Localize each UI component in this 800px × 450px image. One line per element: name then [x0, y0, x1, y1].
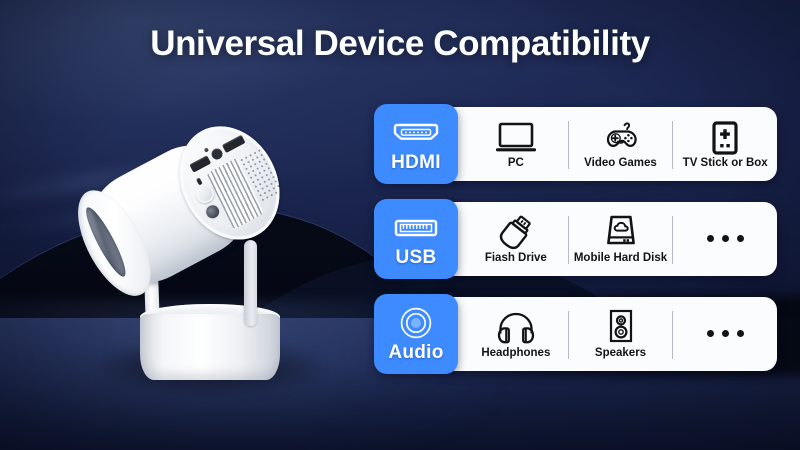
connector-badge-label: Audio: [388, 343, 443, 362]
compatibility-rows: HDMI PC: [374, 104, 800, 389]
device-item-label: Headphones: [481, 348, 550, 360]
audio-jack-icon: [398, 306, 434, 340]
compatibility-row: HDMI PC: [374, 104, 800, 184]
device-item-pc[interactable]: PC: [464, 107, 568, 181]
ellipsis-dots-icon: [707, 330, 744, 337]
device-item-mobile-hard-disk[interactable]: Mobile Hard Disk: [569, 202, 673, 276]
device-card-audio: Headphones Speakers: [442, 297, 777, 371]
usb-flash-drive-icon: [496, 214, 536, 250]
page-title: Universal Device Compatibility: [0, 24, 800, 64]
device-item-label: TV Stick or Box: [683, 158, 768, 170]
device-item-label: Video Games: [584, 158, 657, 170]
external-hard-disk-icon: [602, 214, 640, 250]
hdmi-port-icon: [393, 116, 439, 150]
device-card-hdmi: PC: [442, 107, 777, 181]
compatibility-row: USB: [374, 199, 800, 279]
usb-port-icon: [393, 211, 439, 245]
connector-badge-label: HDMI: [391, 153, 441, 172]
projector-illustration: [96, 128, 326, 393]
laptop-icon: [493, 119, 539, 155]
device-item-flash-drive[interactable]: Fiash Drive: [464, 202, 568, 276]
speaker-icon: [606, 309, 636, 345]
device-item-video-games[interactable]: Video Games: [569, 107, 673, 181]
device-item-label: Speakers: [595, 348, 646, 360]
device-item-label: PC: [508, 158, 524, 170]
gamepad-icon: [598, 119, 644, 155]
connector-badge-usb[interactable]: USB: [374, 199, 458, 279]
connector-badge-hdmi[interactable]: HDMI: [374, 104, 458, 184]
device-item-more-audio[interactable]: [673, 297, 777, 371]
compatibility-row: Audio Headphones: [374, 294, 800, 374]
connector-badge-audio[interactable]: Audio: [374, 294, 458, 374]
device-item-tv-stick-or-box[interactable]: TV Stick or Box: [673, 107, 777, 181]
device-item-label: Mobile Hard Disk: [574, 253, 667, 265]
ellipsis-dots-icon: [707, 235, 744, 242]
device-item-more-usb[interactable]: [673, 202, 777, 276]
connector-badge-label: USB: [395, 248, 436, 267]
headphones-icon: [492, 309, 540, 345]
device-item-headphones[interactable]: Headphones: [464, 297, 568, 371]
device-card-usb: Fiash Drive Mobile Hard Disk: [442, 202, 777, 276]
device-item-speakers[interactable]: Speakers: [569, 297, 673, 371]
tv-remote-icon: [708, 119, 742, 155]
infographic-canvas: Universal Device Compatibility: [0, 0, 800, 450]
device-item-label: Fiash Drive: [485, 253, 547, 265]
